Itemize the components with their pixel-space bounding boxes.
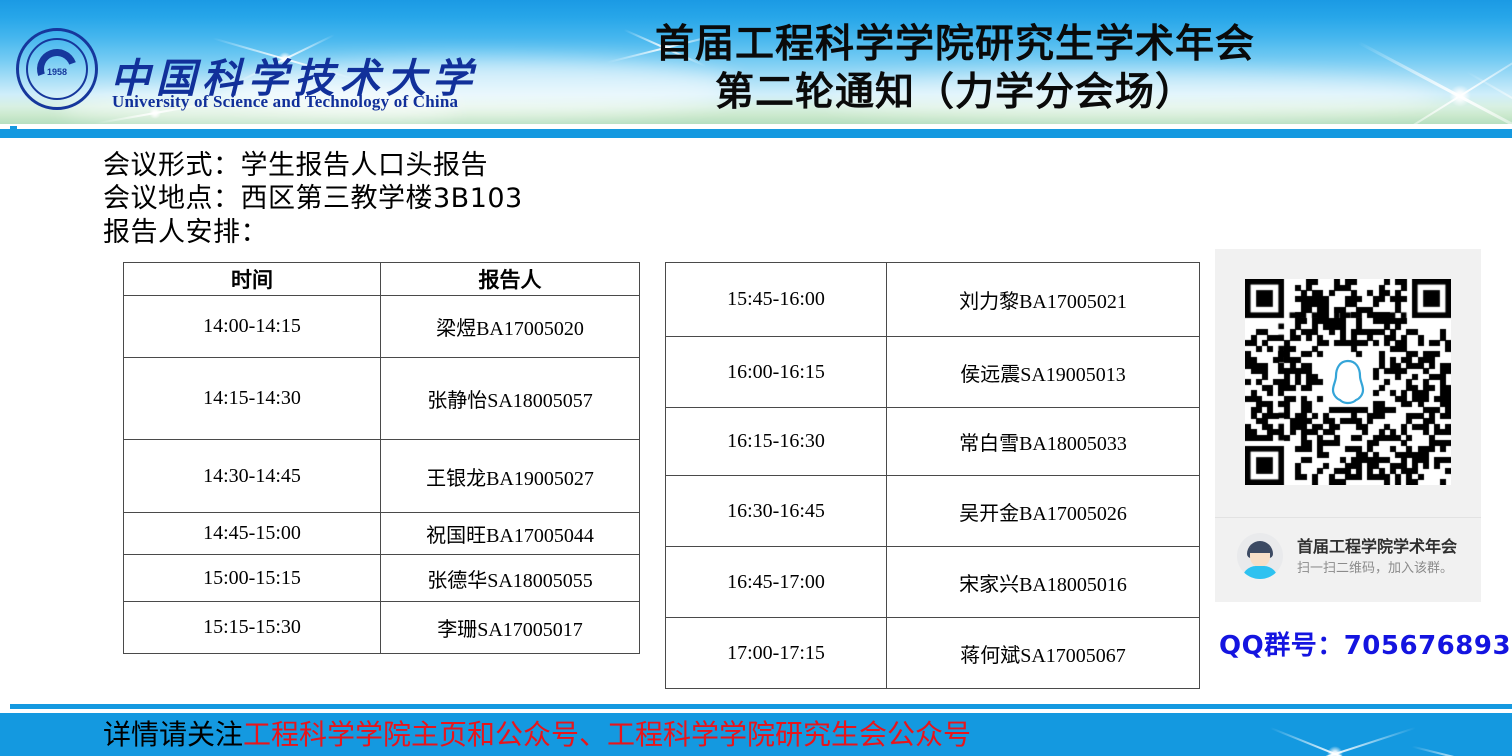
cell-time: 16:45-17:00 — [666, 547, 887, 618]
avatar — [1237, 533, 1283, 579]
column-header-time: 时间 — [124, 263, 381, 296]
cell-time: 15:45-16:00 — [666, 263, 887, 337]
cell-time: 15:15-15:30 — [124, 602, 381, 654]
cell-time: 15:00-15:15 — [124, 555, 381, 602]
cell-speaker: 张德华SA18005055 — [381, 555, 640, 602]
cell-speaker: 吴开金BA17005026 — [887, 476, 1200, 547]
cell-speaker: 李珊SA17005017 — [381, 602, 640, 654]
qq-group-name: 首届工程学院学术年会 — [1297, 533, 1457, 557]
column-header-speaker: 报告人 — [381, 263, 640, 296]
cell-speaker: 蒋何斌SA17005067 — [887, 618, 1200, 689]
table-row: 17:00-17:15蒋何斌SA17005067 — [666, 618, 1200, 689]
table-row: 16:15-16:30常白雪BA18005033 — [666, 408, 1200, 476]
cell-speaker: 侯远震SA19005013 — [887, 337, 1200, 408]
cell-time: 14:45-15:00 — [124, 513, 381, 555]
qq-group-number-value: 705676893 — [1344, 631, 1511, 661]
cell-time: 14:30-14:45 — [124, 440, 381, 513]
footer-prefix: 详情请关注 — [103, 718, 243, 751]
header-accent-bar — [0, 129, 1512, 138]
meeting-location: 会议地点：西区第三教学楼3B103 — [103, 182, 523, 215]
ustc-seal-icon: 1958 — [16, 28, 98, 110]
footer-highlight: 工程科学学院主页和公众号、工程科学学院研究生会公众号 — [243, 718, 971, 751]
poster-title: 首届工程科学学院研究生学术年会 第二轮通知（力学分会场） — [560, 21, 1350, 116]
table-row: 16:30-16:45吴开金BA17005026 — [666, 476, 1200, 547]
table-row: 16:00-16:15侯远震SA19005013 — [666, 337, 1200, 408]
qq-scan-hint: 扫一扫二维码，加入该群。 — [1297, 557, 1453, 576]
seal-year: 1958 — [19, 67, 95, 77]
qq-group-number-line: QQ群号：705676893 — [1219, 625, 1511, 662]
poster-page: 1958 中国科学技术大学 University of Science and … — [0, 0, 1512, 756]
qr-divider — [1215, 517, 1481, 518]
sparkle-icon — [1430, 112, 1512, 124]
sparkle-icon — [1360, 36, 1512, 124]
cell-speaker: 刘力黎BA17005021 — [887, 263, 1200, 337]
schedule-table-right: 15:45-16:00刘力黎BA1700502116:00-16:15侯远震SA… — [665, 262, 1200, 689]
cell-speaker: 梁煜BA17005020 — [381, 296, 640, 358]
table-row: 15:00-15:15张德华SA18005055 — [124, 555, 640, 602]
cell-time: 14:15-14:30 — [124, 358, 381, 440]
meeting-format: 会议形式：学生报告人口头报告 — [103, 149, 523, 182]
cell-time: 17:00-17:15 — [666, 618, 887, 689]
table-row: 14:30-14:45王银龙BA19005027 — [124, 440, 640, 513]
footer-text: 详情请关注工程科学学院主页和公众号、工程科学学院研究生会公众号 — [103, 715, 971, 755]
speaker-schedule-label: 报告人安排： — [103, 216, 523, 249]
table-row: 14:15-14:30张静怡SA18005057 — [124, 358, 640, 440]
footer-banner: 详情请关注工程科学学院主页和公众号、工程科学学院研究生会公众号 — [0, 713, 1512, 756]
meeting-info: 会议形式：学生报告人口头报告 会议地点：西区第三教学楼3B103 报告人安排： — [103, 149, 523, 249]
cell-speaker: 祝国旺BA17005044 — [381, 513, 640, 555]
qq-group-qr-panel[interactable]: 首届工程学院学术年会 扫一扫二维码，加入该群。 — [1215, 249, 1481, 602]
university-name-en: University of Science and Technology of … — [112, 92, 458, 112]
title-line-1: 首届工程科学学院研究生学术年会 — [560, 21, 1350, 69]
cell-speaker: 张静怡SA18005057 — [381, 358, 640, 440]
qq-group-number-label: QQ群号： — [1219, 631, 1344, 661]
table-row: 16:45-17:00宋家兴BA18005016 — [666, 547, 1200, 618]
qr-footer: 首届工程学院学术年会 扫一扫二维码，加入该群。 — [1237, 531, 1469, 587]
title-line-2: 第二轮通知（力学分会场） — [560, 69, 1350, 117]
sparkle-icon — [1255, 729, 1415, 756]
table-row: 14:45-15:00祝国旺BA17005044 — [124, 513, 640, 555]
content-area: 会议形式：学生报告人口头报告 会议地点：西区第三教学楼3B103 报告人安排： … — [0, 138, 1512, 710]
qr-code-image[interactable] — [1245, 279, 1451, 485]
table-body-left: 14:00-14:15梁煜BA1700502014:15-14:30张静怡SA1… — [124, 296, 640, 654]
cell-speaker: 宋家兴BA18005016 — [887, 547, 1200, 618]
university-logo: 1958 中国科学技术大学 University of Science and … — [14, 26, 494, 112]
table-row: 14:00-14:15梁煜BA17005020 — [124, 296, 640, 358]
sparkle-icon — [1410, 741, 1512, 756]
schedule-table-left: 时间 报告人 14:00-14:15梁煜BA1700502014:15-14:3… — [123, 262, 640, 654]
table-row: 15:15-15:30李珊SA17005017 — [124, 602, 640, 654]
cell-time: 16:00-16:15 — [666, 337, 887, 408]
cell-time: 16:15-16:30 — [666, 408, 887, 476]
table-header-row: 时间 报告人 — [124, 263, 640, 296]
table-body-right: 15:45-16:00刘力黎BA1700502116:00-16:15侯远震SA… — [666, 263, 1200, 689]
header-banner: 1958 中国科学技术大学 University of Science and … — [0, 0, 1512, 124]
table-row: 15:45-16:00刘力黎BA17005021 — [666, 263, 1200, 337]
cell-speaker: 常白雪BA18005033 — [887, 408, 1200, 476]
cell-speaker: 王银龙BA19005027 — [381, 440, 640, 513]
cell-time: 14:00-14:15 — [124, 296, 381, 358]
sparkle-icon — [1455, 62, 1512, 124]
cell-time: 16:30-16:45 — [666, 476, 887, 547]
